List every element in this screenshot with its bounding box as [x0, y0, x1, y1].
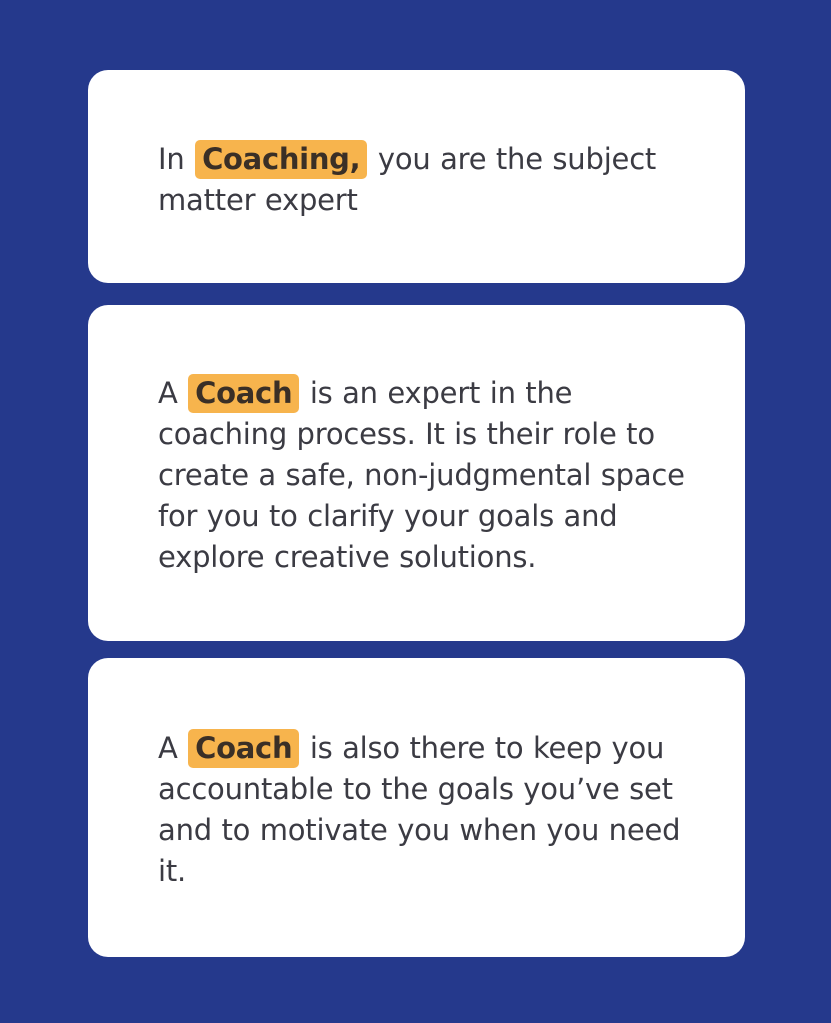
- highlighted-term: Coach: [188, 374, 299, 413]
- info-card-coaching-subject-matter-expert: In Coaching, you are the subject matter …: [88, 70, 745, 283]
- card-body: A Coach is also there to keep you accoun…: [88, 724, 745, 892]
- card-body: In Coaching, you are the subject matter …: [88, 133, 745, 221]
- info-card-coach-expert-in-process: A Coach is an expert in the coaching pro…: [88, 305, 745, 641]
- slide-canvas: In Coaching, you are the subject matter …: [0, 0, 831, 1023]
- card-text: A Coach is also there to keep you accoun…: [158, 728, 709, 892]
- card-text: A Coach is an expert in the coaching pro…: [158, 373, 709, 578]
- info-card-coach-accountability: A Coach is also there to keep you accoun…: [88, 658, 745, 957]
- highlighted-term: Coach: [188, 729, 299, 768]
- card-body: A Coach is an expert in the coaching pro…: [88, 369, 745, 578]
- card-text: In Coaching, you are the subject matter …: [158, 139, 709, 221]
- highlighted-term: Coaching,: [195, 140, 367, 179]
